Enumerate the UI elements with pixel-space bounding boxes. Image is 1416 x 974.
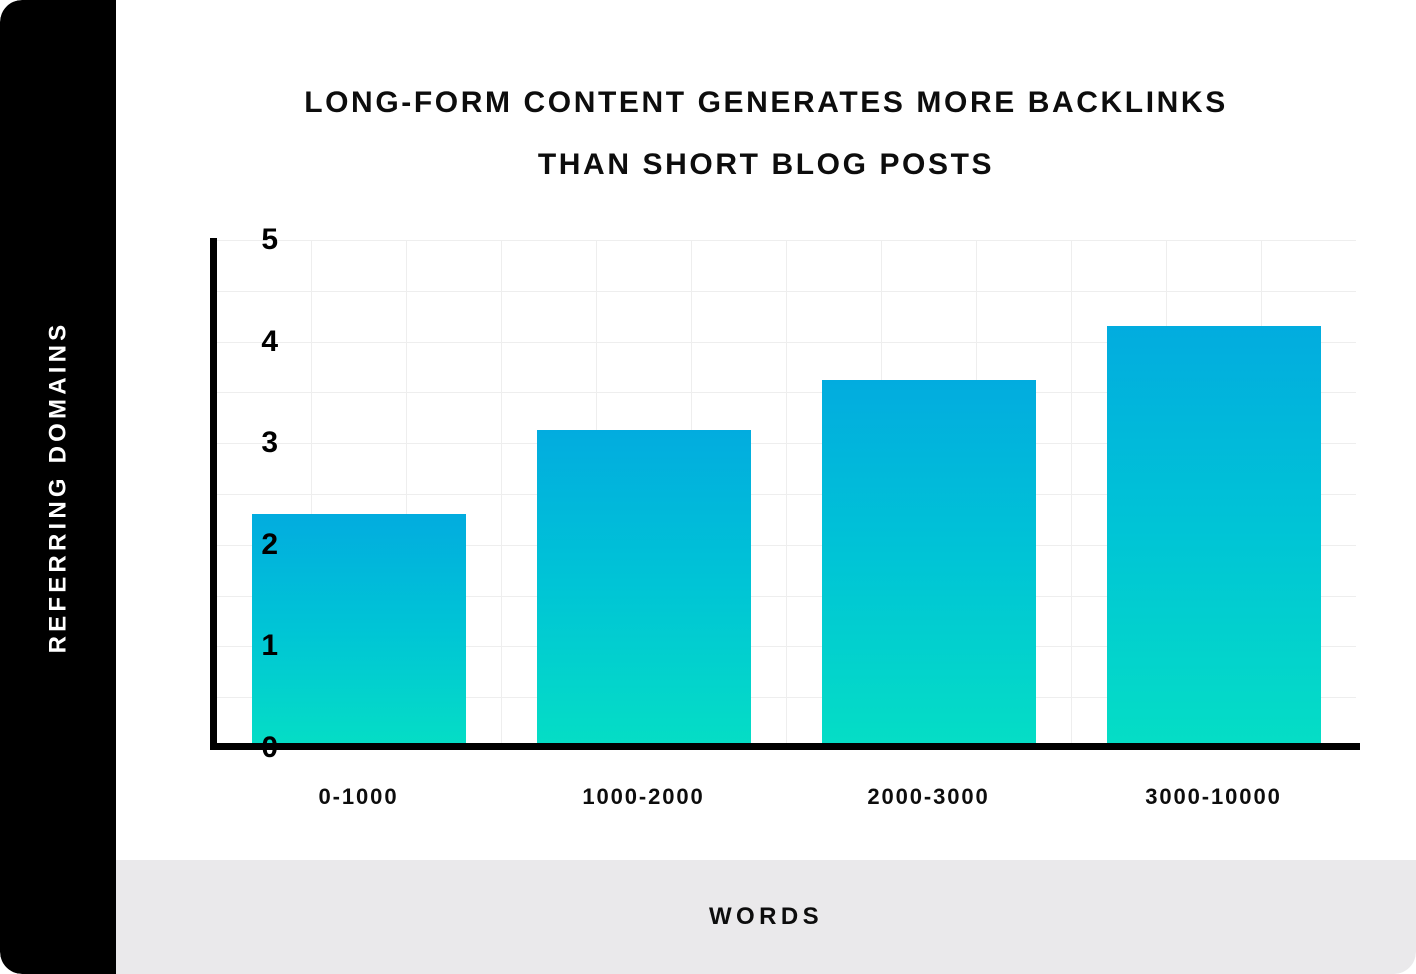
y-tick-label: 0 (232, 731, 278, 765)
gridline-vertical (786, 240, 787, 748)
x-tick-label: 2000-3000 (779, 784, 1079, 810)
y-axis-title-text: REFERRING DOMAINS (44, 321, 72, 654)
y-axis-line (210, 238, 217, 750)
infographic-card: REFERRING DOMAINS LONG-FORM CONTENT GENE… (0, 0, 1416, 974)
y-tick-label: 4 (232, 325, 278, 359)
x-axis-footer: WORDS (116, 860, 1416, 974)
y-tick-label: 1 (232, 629, 278, 663)
gridline-vertical (501, 240, 502, 748)
bar[interactable] (1107, 326, 1321, 748)
bar[interactable] (822, 380, 1036, 748)
chart-title-line-1: LONG-FORM CONTENT GENERATES MORE BACKLIN… (116, 72, 1416, 134)
chart-title: LONG-FORM CONTENT GENERATES MORE BACKLIN… (116, 72, 1416, 196)
plot-area-wrapper (216, 240, 1356, 748)
bar[interactable] (252, 514, 466, 748)
x-tick-label: 1000-2000 (494, 784, 794, 810)
y-tick-label: 5 (232, 223, 278, 257)
bar[interactable] (537, 430, 751, 748)
x-axis-title: WORDS (709, 903, 823, 931)
y-axis-sidebar: REFERRING DOMAINS (0, 0, 116, 974)
plot-area (216, 240, 1356, 748)
chart-title-line-2: THAN SHORT BLOG POSTS (116, 134, 1416, 196)
chart-canvas: LONG-FORM CONTENT GENERATES MORE BACKLIN… (116, 0, 1416, 974)
y-axis-title: REFERRING DOMAINS (0, 0, 116, 974)
x-tick-label: 0-1000 (209, 784, 509, 810)
y-axis-tick-labels: 543210 (228, 0, 278, 974)
x-axis-line (210, 743, 1360, 750)
gridline-vertical (1071, 240, 1072, 748)
y-tick-label: 3 (232, 426, 278, 460)
x-tick-label: 3000-10000 (1064, 784, 1364, 810)
y-tick-label: 2 (232, 528, 278, 562)
